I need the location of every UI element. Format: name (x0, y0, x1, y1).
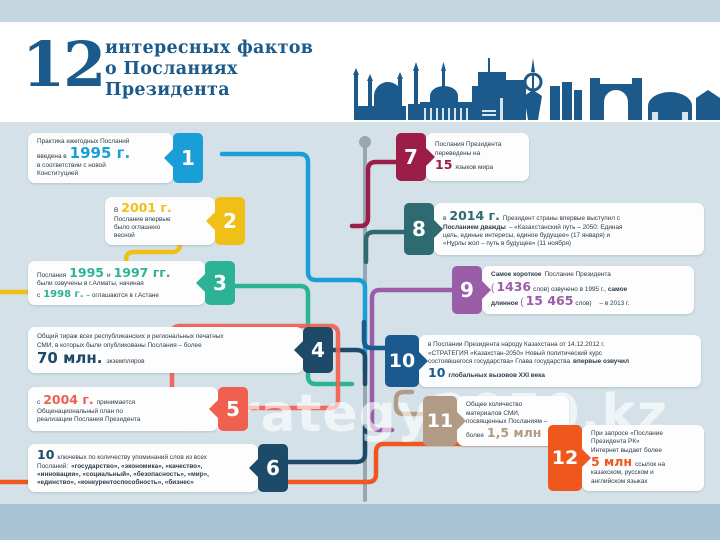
fact-2-line-2: Послание впервые (114, 216, 206, 224)
fact-2-badge[interactable]: 2 (215, 197, 245, 245)
fact-3-number: 3 (213, 271, 227, 295)
fact-2-text: В 2001 г. Послание впервые было оглашено… (105, 197, 215, 245)
fact-11-line-4a: более (466, 432, 484, 440)
fact-4-line-3b: экземпляров (106, 358, 144, 366)
fact-12-line-5: казахском, русском и (591, 469, 695, 477)
fact-9-line-3d: слов) (575, 300, 591, 308)
fact-4-number: 4 (311, 338, 325, 362)
fact-5-line-1a: с (37, 399, 40, 407)
fact-3-highlight-1: 1995 (69, 266, 104, 279)
fact-12-text: При запросе «Послание Президента РК» Инт… (582, 425, 704, 491)
fact-12-badge[interactable]: 12 (548, 425, 582, 491)
headline-number: 12 (22, 34, 104, 96)
fact-9-highlight-1: 1436 (496, 280, 531, 293)
page-title: интересных фактов о Посланиях Президента (105, 38, 313, 101)
fact-6-line-2a: Посланий: (37, 463, 68, 471)
fact-card-9[interactable]: 9 Самое короткое Послание Президента ( 1… (452, 266, 694, 314)
fact-6-line-1b: ключевых по количеству упоминаний слов и… (57, 454, 207, 462)
fact-9-line-1b: Послание Президента (545, 271, 611, 279)
fact-9-line-2d: самое (608, 286, 627, 294)
fact-9-paren-open-2: ( (520, 297, 523, 308)
fact-3-text: Послания 1995 и 1997 гг. были озвучены в… (28, 261, 205, 305)
fact-8-line-1a: в (443, 215, 446, 223)
fact-10-line-4b: глобальных вызовов XXI века (448, 372, 545, 380)
fact-4-line-1: Общий тираж всех республиканских и регио… (37, 333, 294, 341)
fact-11-line-1: Общее количество (466, 401, 560, 409)
fact-10-badge[interactable]: 10 (385, 335, 419, 387)
fact-card-4[interactable]: Общий тираж всех республиканских и регио… (28, 327, 333, 373)
fact-4-text: Общий тираж всех республиканских и регио… (28, 327, 303, 373)
fact-7-line-1: Послания Президента (435, 141, 520, 149)
fact-card-2[interactable]: В 2001 г. Послание впервые было оглашено… (105, 197, 245, 245)
fact-card-3[interactable]: Послания 1995 и 1997 гг. были озвучены в… (28, 261, 235, 305)
fact-12-line-4b: ссылок на (635, 461, 665, 469)
fact-3-highlight-2: 1997 гг. (114, 266, 171, 279)
bottom-band (0, 504, 720, 540)
fact-6-number: 6 (266, 456, 280, 480)
fact-9-text: Самое короткое Послание Президента ( 143… (482, 266, 694, 314)
fact-1-highlight: 1995 г. (70, 146, 131, 161)
title-line-3: Президента (105, 80, 313, 101)
fact-9-highlight-2: 15 465 (526, 294, 574, 307)
fact-6-badge[interactable]: 6 (258, 444, 288, 492)
top-band (0, 0, 720, 22)
fact-3-highlight-3: 1998 г. (43, 289, 83, 300)
fact-card-7[interactable]: 7 Послания Президента переведены на 15 я… (396, 133, 529, 181)
fact-10-line-1: в Послании Президента народу Казахстана … (428, 341, 692, 349)
fact-11-number: 11 (427, 410, 453, 432)
fact-card-5[interactable]: с 2004 г. принимается Общенациональный п… (28, 387, 248, 431)
fact-8-highlight: 2014 г. (449, 209, 499, 222)
fact-8-line-2a: Посланием дважды (443, 224, 506, 232)
fact-5-badge[interactable]: 5 (218, 387, 248, 431)
fact-12-line-1: При запросе «Послание (591, 430, 695, 438)
fact-6-line-2b: «государство», «экономика», «качество», (71, 463, 202, 471)
fact-5-text: с 2004 г. принимается Общенациональный п… (28, 387, 218, 431)
fact-12-number: 12 (552, 447, 578, 469)
fact-card-10[interactable]: 10 в Послании Президента народу Казахста… (385, 335, 701, 387)
fact-11-highlight: 1,5 млн (487, 426, 542, 439)
fact-9-number: 9 (460, 278, 474, 302)
fact-1-line-3: в соответствии с новой (37, 162, 164, 170)
fact-7-badge[interactable]: 7 (396, 133, 426, 181)
fact-10-line-2: «СТРАТЕГИЯ «Казахстан-2050» Новый полити… (428, 350, 692, 358)
fact-card-12[interactable]: 12 При запросе «Послание Президента РК» … (548, 425, 704, 491)
fact-7-number: 7 (404, 145, 418, 169)
fact-5-line-1c: принимается (97, 399, 135, 407)
fact-3-badge[interactable]: 3 (205, 261, 235, 305)
fact-5-number: 5 (226, 397, 240, 421)
fact-8-text: в 2014 г. Президент страны впервые высту… (434, 203, 704, 255)
title-line-2: о Посланиях (105, 59, 313, 80)
fact-10-line-3a: состоявшегося государства» Глава государ… (428, 358, 570, 366)
title-line-1: интересных фактов (105, 38, 313, 59)
fact-1-text: Практика ежегодных Посланий введена в 19… (28, 133, 173, 183)
fact-1-badge[interactable]: 1 (173, 133, 203, 183)
fact-12-highlight: 5 млн (591, 455, 632, 468)
fact-9-line-3e: – в 2013 г. (600, 300, 630, 308)
fact-5-line-2: Общенациональный план по (37, 408, 209, 416)
fact-2-number: 2 (223, 209, 237, 233)
astana-skyline-icon (352, 34, 720, 120)
fact-card-6[interactable]: 10 ключевых по количеству упоминаний сло… (28, 444, 288, 492)
fact-6-text: 10 ключевых по количеству упоминаний сло… (28, 444, 258, 492)
fact-3-line-2: были озвучены в г.Алматы, начиная (37, 280, 196, 288)
fact-3-line-3c: – оглашаются в г.Астане (87, 292, 159, 300)
fact-card-1[interactable]: Практика ежегодных Посланий введена в 19… (28, 133, 203, 183)
fact-8-line-4: «Нұрлы жол – путь в будущее» (11 ноября) (443, 240, 695, 248)
fact-4-badge[interactable]: 4 (303, 327, 333, 373)
fact-1-number: 1 (181, 146, 195, 170)
fact-11-badge[interactable]: 11 (423, 396, 457, 446)
fact-12-line-2: Президента РК» (591, 438, 695, 446)
fact-3-line-3a: с (37, 292, 40, 300)
fact-1-line-2a: введена в (37, 153, 67, 161)
fact-9-line-3a: длинное (491, 300, 518, 308)
fact-9-paren-open: ( (491, 283, 494, 294)
fact-7-text: Послания Президента переведены на 15 язы… (426, 133, 529, 181)
infographic-canvas: 12 интересных фактов о Посланиях Президе… (0, 0, 720, 540)
fact-10-number: 10 (389, 350, 415, 372)
fact-1-line-4: Конституцией (37, 170, 164, 178)
fact-11-line-2: материалов СМИ, (466, 410, 560, 418)
fact-6-highlight: 10 (37, 448, 54, 461)
fact-8-number: 8 (412, 217, 426, 241)
fact-6-line-4: «единство», «конкурентоспособность», «би… (37, 479, 249, 487)
fact-10-highlight: 10 (428, 366, 445, 379)
fact-4-highlight: 70 млн. (37, 351, 102, 366)
fact-12-line-6: английском языках (591, 478, 695, 486)
fact-5-line-3: реализации Послания Президента (37, 416, 209, 424)
fact-7-highlight: 15 (435, 158, 452, 171)
fact-card-8[interactable]: 8 в 2014 г. Президент страны впервые выс… (404, 203, 704, 255)
fact-2-line-1a: В (114, 207, 118, 215)
fact-7-line-3b: языков мира (455, 164, 493, 172)
fact-8-line-2b: – «Казахстанский путь – 2050: Единая (509, 224, 623, 232)
fact-9-badge[interactable]: 9 (452, 266, 482, 314)
fact-10-line-3b: впервые озвучил (573, 358, 629, 366)
fact-8-badge[interactable]: 8 (404, 203, 434, 255)
fact-10-text: в Послании Президента народу Казахстана … (419, 335, 701, 387)
fact-5-highlight: 2004 г. (43, 393, 93, 406)
fact-2-line-4: весной (114, 232, 206, 240)
fact-8-line-1c: Президент страны впервые выступил с (503, 215, 620, 223)
fact-2-highlight: 2001 г. (121, 201, 171, 214)
